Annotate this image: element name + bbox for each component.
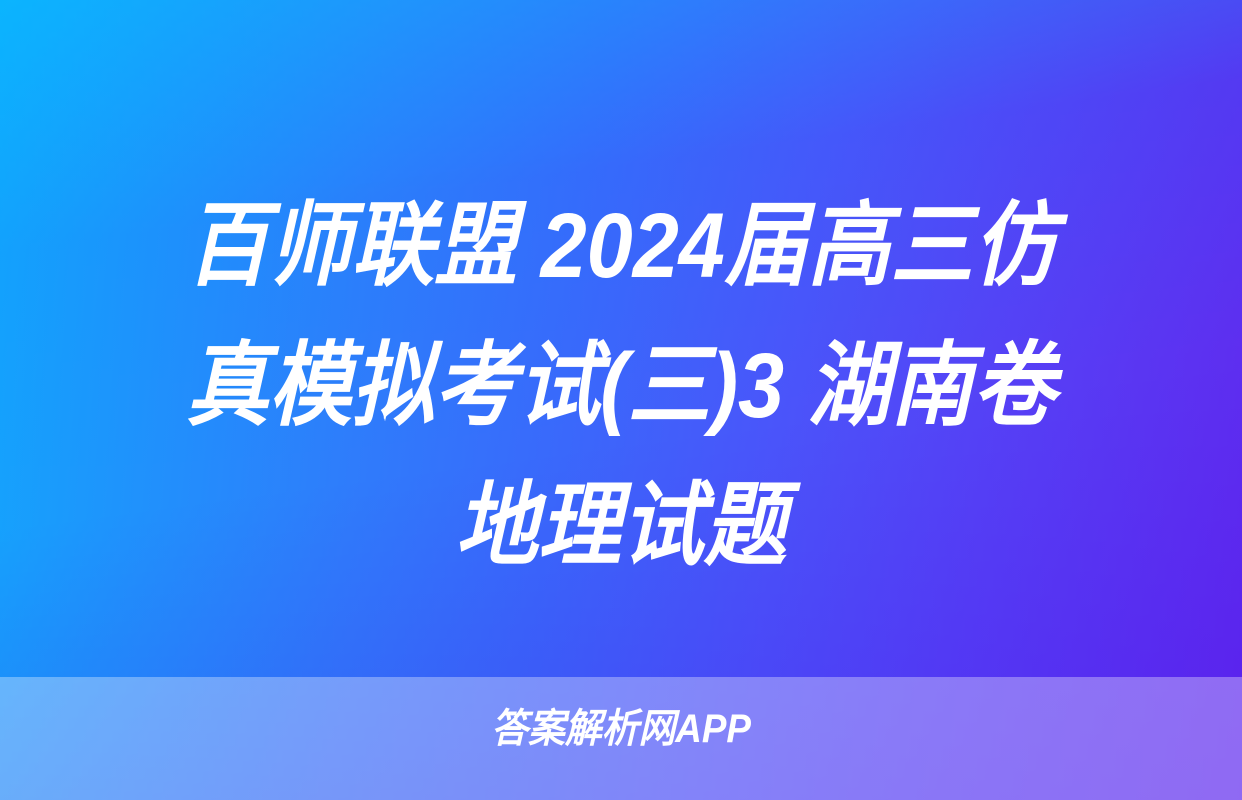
title-line-1-part-a: 百师联盟: [186, 195, 517, 297]
page-title: 百师联盟2024届高三仿 真模拟考试(三)3湖南卷 地理试题: [0, 176, 1242, 596]
title-line-3-part-a: 地理试题: [455, 475, 786, 577]
title-line-1-part-b: 2024届高三仿: [541, 195, 1056, 297]
title-line-3: 地理试题: [62, 456, 1180, 596]
title-line-1: 百师联盟2024届高三仿: [62, 176, 1180, 316]
title-line-2-part-a: 真模拟考试(三)3: [186, 335, 784, 437]
footer-watermark: 答案解析网APP: [0, 703, 1242, 755]
title-line-2-part-b: 湖南卷: [807, 335, 1055, 437]
title-line-2: 真模拟考试(三)3湖南卷: [62, 316, 1180, 456]
exam-cover-banner: 百师联盟2024届高三仿 真模拟考试(三)3湖南卷 地理试题 答案解析网APP: [0, 0, 1242, 800]
footer-watermark-label: 答案解析网APP: [491, 703, 751, 755]
